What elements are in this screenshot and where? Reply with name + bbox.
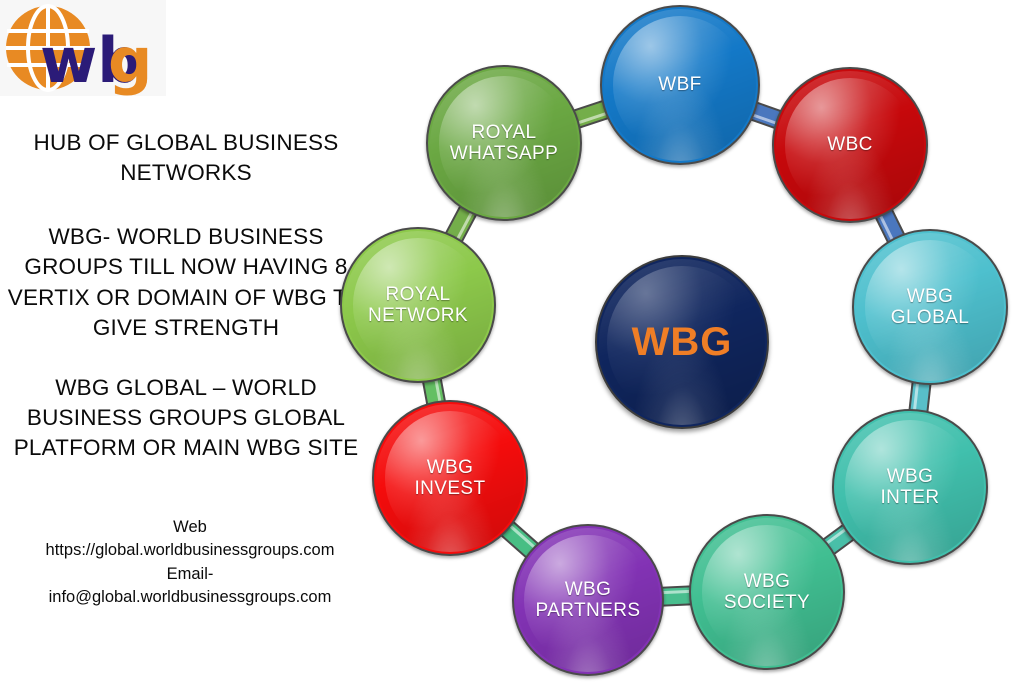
node-label-wbg-inter: WBGINTER (881, 466, 940, 509)
center-node-label: WBG (632, 320, 733, 365)
about-wbg-paragraph: WBG- WORLD BUSINESS GROUPS TILL NOW HAVI… (0, 222, 372, 343)
node-wbc[interactable]: WBC (772, 67, 928, 223)
node-wbg-partners[interactable]: WBGPARTNERS (512, 524, 664, 676)
node-wbg-global[interactable]: WBGGLOBAL (852, 229, 1008, 385)
left-text-column: HUB OF GLOBAL BUSINESS NETWORKS WBG- WOR… (0, 128, 372, 487)
wbg-logo: wb g (0, 0, 166, 96)
wbg-logo-graphic: wb g (0, 0, 166, 96)
svg-text:g: g (108, 24, 152, 96)
node-wbg-society[interactable]: WBGSOCIETY (689, 514, 845, 670)
node-royal-whatsapp[interactable]: ROYALWHATSAPP (426, 65, 582, 221)
wbg-global-paragraph: WBG GLOBAL – WORLD BUSINESS GROUPS GLOBA… (0, 373, 372, 463)
wbg-wordmark: wb g (40, 24, 152, 96)
web-label: Web (0, 516, 380, 539)
node-wbg-inter[interactable]: WBGINTER (832, 409, 988, 565)
node-label-royal-whatsapp: ROYALWHATSAPP (450, 122, 558, 165)
node-wbg-invest[interactable]: WBGINVEST (372, 400, 528, 556)
node-royal-network[interactable]: ROYALNETWORK (340, 227, 496, 383)
tagline-paragraph: HUB OF GLOBAL BUSINESS NETWORKS (0, 128, 372, 188)
web-url[interactable]: https://global.worldbusinessgroups.com (0, 539, 380, 562)
contact-block: Web https://global.worldbusinessgroups.c… (0, 516, 380, 610)
node-label-wbf: WBF (658, 74, 701, 95)
node-label-wbg-invest: WBGINVEST (414, 457, 485, 500)
node-label-wbg-global: WBGGLOBAL (891, 286, 969, 329)
node-label-royal-network: ROYALNETWORK (368, 284, 468, 327)
wbg-vertix-diagram: WBFWBCWBGGLOBALWBGINTERWBGSOCIETYWBGPART… (330, 0, 1024, 700)
email-address[interactable]: info@global.worldbusinessgroups.com (0, 586, 380, 609)
email-label: Email- (0, 563, 380, 586)
node-wbf[interactable]: WBF (600, 5, 760, 165)
node-label-wbc: WBC (827, 134, 873, 155)
node-label-wbg-society: WBGSOCIETY (724, 571, 810, 614)
center-node-wbg[interactable]: WBG (595, 255, 769, 429)
node-label-wbg-partners: WBGPARTNERS (536, 579, 641, 622)
